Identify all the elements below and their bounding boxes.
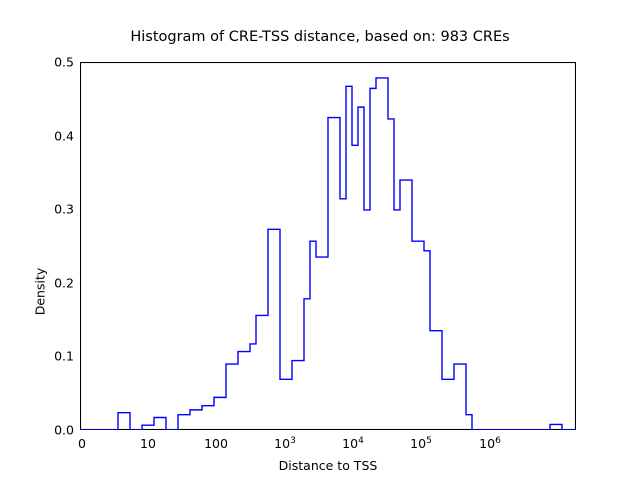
histogram-step-outline [82, 78, 576, 430]
x-tick-label: 106 [479, 436, 501, 451]
y-tick-label: 0.3 [54, 202, 74, 217]
x-axis-tick-labels: 0 10 100 103 104 105 106 [80, 436, 576, 456]
y-tick-label: 0.0 [54, 423, 74, 438]
plot-area [80, 62, 576, 430]
x-tick-label: 100 [204, 436, 228, 451]
chart-title: Histogram of CRE-TSS distance, based on:… [0, 29, 640, 45]
y-tick-label: 0.4 [54, 128, 74, 143]
x-tick-label: 0 [78, 436, 86, 451]
y-tick-label: 0.2 [54, 275, 74, 290]
y-tick-label: 0.5 [54, 55, 74, 70]
x-tick-label: 103 [274, 436, 296, 451]
figure-canvas: Histogram of CRE-TSS distance, based on:… [0, 0, 640, 480]
x-tick-label: 104 [342, 436, 364, 451]
x-axis-title: Distance to TSS [80, 458, 576, 473]
x-tick-label: 10 [140, 436, 156, 451]
x-tick-label: 105 [410, 436, 432, 451]
y-axis-title: Density [33, 232, 48, 352]
histogram-plot [80, 62, 576, 430]
y-axis-tick-labels: 0.0 0.1 0.2 0.3 0.4 0.5 Density [22, 62, 74, 430]
y-tick-label: 0.1 [54, 349, 74, 364]
